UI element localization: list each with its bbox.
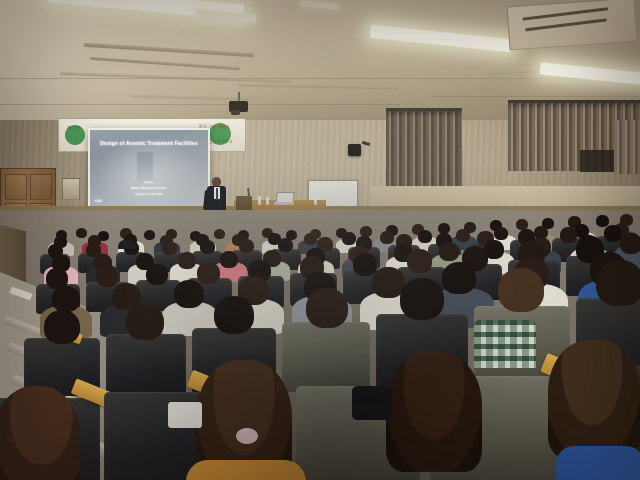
plaid-shirt-attendee (474, 320, 536, 368)
audience-head (604, 225, 622, 242)
audience-head (239, 239, 254, 253)
audience-head (76, 228, 87, 238)
handbag (352, 386, 392, 420)
audience-head (126, 304, 164, 340)
lecture-hall-photo: 환경 기술 세미나 제 7 회 성균관대학교 Design of Arsenic… (0, 0, 640, 480)
audience-head (442, 262, 476, 294)
slide-subtitle-3: Houston, TX USA (90, 192, 208, 196)
audience-head (146, 264, 168, 285)
audience-head (620, 233, 640, 254)
water-bottle (266, 197, 269, 205)
blue-shirt-attendee (556, 446, 640, 480)
slide-subtitle-2: Water Research Center (90, 186, 208, 190)
audience-head (342, 232, 356, 245)
audience-head (44, 310, 80, 344)
audience-head (200, 240, 215, 254)
banner-left-text: 제 7 회 (67, 125, 80, 131)
wall-speaker (348, 144, 361, 156)
slide-subtitle-1: U.S.A. (90, 180, 208, 184)
ac-vent (507, 0, 638, 50)
audience-head (353, 253, 377, 276)
foreground-person-shirt (186, 460, 306, 480)
audience-head (197, 262, 220, 284)
audience-head (456, 229, 470, 242)
audience-head (214, 296, 254, 334)
audience-seating-area (0, 210, 640, 480)
audience-head (174, 280, 204, 308)
paper-handout (168, 402, 202, 428)
window-gap (580, 150, 614, 172)
wall-notice (62, 178, 80, 200)
audience-head (96, 266, 118, 287)
ceiling-projector (228, 92, 252, 116)
audience-head (418, 230, 432, 243)
audience-head (380, 231, 394, 244)
baseball-cap (118, 240, 136, 249)
audience-head (596, 260, 640, 306)
foreground-person-right (386, 352, 482, 472)
slide-logo: UIA (95, 199, 102, 203)
water-bottle (258, 196, 261, 205)
audience-head (52, 286, 80, 312)
slide-image (137, 152, 153, 182)
curtain-left[interactable] (386, 111, 462, 187)
audience-head (400, 278, 444, 320)
audience-head (407, 249, 432, 273)
ceiling-seam (0, 78, 640, 79)
foreground-person-far-right (548, 340, 640, 458)
laptop-base (274, 202, 294, 205)
audience-head (220, 251, 238, 268)
curtain-far-right[interactable] (614, 120, 640, 174)
seat[interactable] (282, 322, 370, 392)
audience-head (162, 241, 177, 255)
ceiling-seam (430, 96, 640, 97)
seat[interactable] (106, 334, 186, 396)
audience-head (304, 233, 317, 245)
projection-screen: Design of Arsenic Treatment Facilities U… (90, 130, 208, 208)
audience-head (498, 268, 544, 312)
audience-head (494, 227, 508, 240)
banner-subtext: 성균관대학교 (209, 139, 233, 145)
audience-head (596, 215, 609, 227)
audience-head (144, 230, 155, 240)
foreground-person-left (0, 386, 80, 480)
audience-head (214, 229, 225, 239)
presenter-tie (216, 188, 218, 200)
hair-tie (236, 428, 258, 444)
audience-head (560, 227, 577, 243)
audience-head (278, 238, 293, 252)
ceiling-seam (0, 104, 400, 105)
audience-head (439, 242, 459, 261)
slide-title: Design of Arsenic Treatment Facilities (90, 141, 208, 147)
audience-head (178, 252, 196, 269)
audience-head (306, 288, 348, 328)
water-bottle (314, 197, 317, 205)
projection-screen-frame: Design of Arsenic Treatment Facilities U… (88, 128, 210, 210)
